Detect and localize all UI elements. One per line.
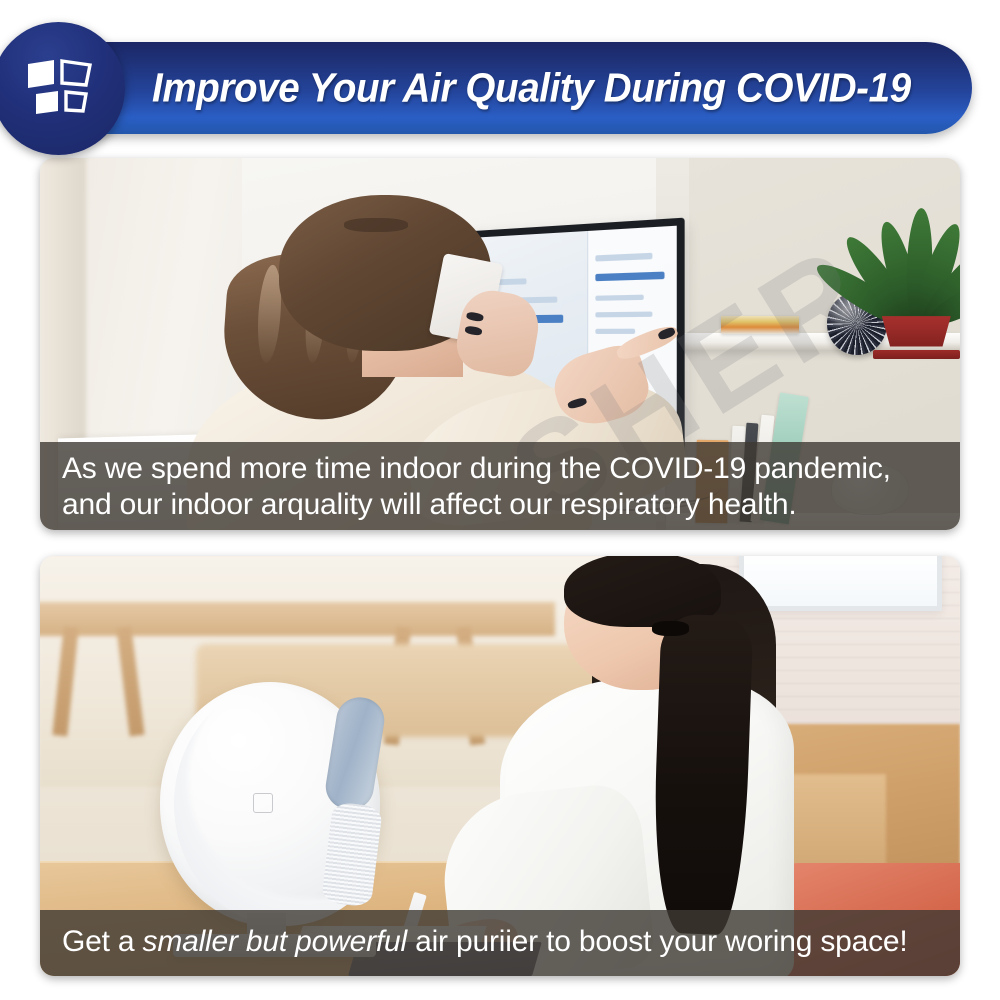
stacked-panels-logo-icon (26, 58, 92, 120)
fingernail (465, 311, 483, 322)
woman-hair-tie (652, 621, 689, 636)
fingernail (464, 325, 482, 336)
caption-suffix: air puriier to boost your woring space! (407, 925, 908, 958)
page-title-text: Improve Your Air Quality During COVID-19 (152, 65, 911, 112)
hair-tie (344, 218, 408, 233)
mi-brand-logo-icon (253, 793, 272, 812)
caption-line: Get a smaller but powerful air puriier t… (62, 924, 908, 960)
flower-pot-saucer (873, 350, 960, 360)
page-title: Improve Your Air Quality During COVID-19 (152, 65, 959, 112)
brand-logo-badge (0, 22, 125, 155)
window (739, 556, 941, 611)
content-card-air-purifier: DASHER Get a smaller but powerful air pu… (40, 556, 960, 976)
caption-emphasis: smaller but powerful (143, 925, 407, 958)
caption-line-2: and our indoor arquality will affect our… (62, 487, 938, 523)
home-office-photo: SHER As we spend more time indoor during… (40, 158, 960, 530)
screen-ui-bar (596, 294, 644, 300)
caption-prefix: Get a (62, 925, 143, 958)
content-card-home-office: SHER As we spend more time indoor during… (40, 158, 960, 530)
potted-plant-leaves (831, 158, 960, 325)
stacked-books (721, 316, 799, 334)
air-purifier-photo: DASHER Get a smaller but powerful air pu… (40, 556, 960, 976)
screen-ui-bar (596, 328, 636, 333)
fingernail (567, 397, 587, 410)
fingernail (657, 326, 676, 340)
poster-page: Improve Your Air Quality During COVID-19 (0, 0, 1000, 1000)
caption-line-1: As we spend more time indoor during the … (62, 451, 938, 487)
header-banner: Improve Your Air Quality During COVID-19 (0, 42, 972, 134)
screen-ui-bar (596, 311, 653, 317)
caption-home-office: As we spend more time indoor during the … (40, 442, 960, 530)
caption-air-purifier: Get a smaller but powerful air puriier t… (40, 910, 960, 976)
